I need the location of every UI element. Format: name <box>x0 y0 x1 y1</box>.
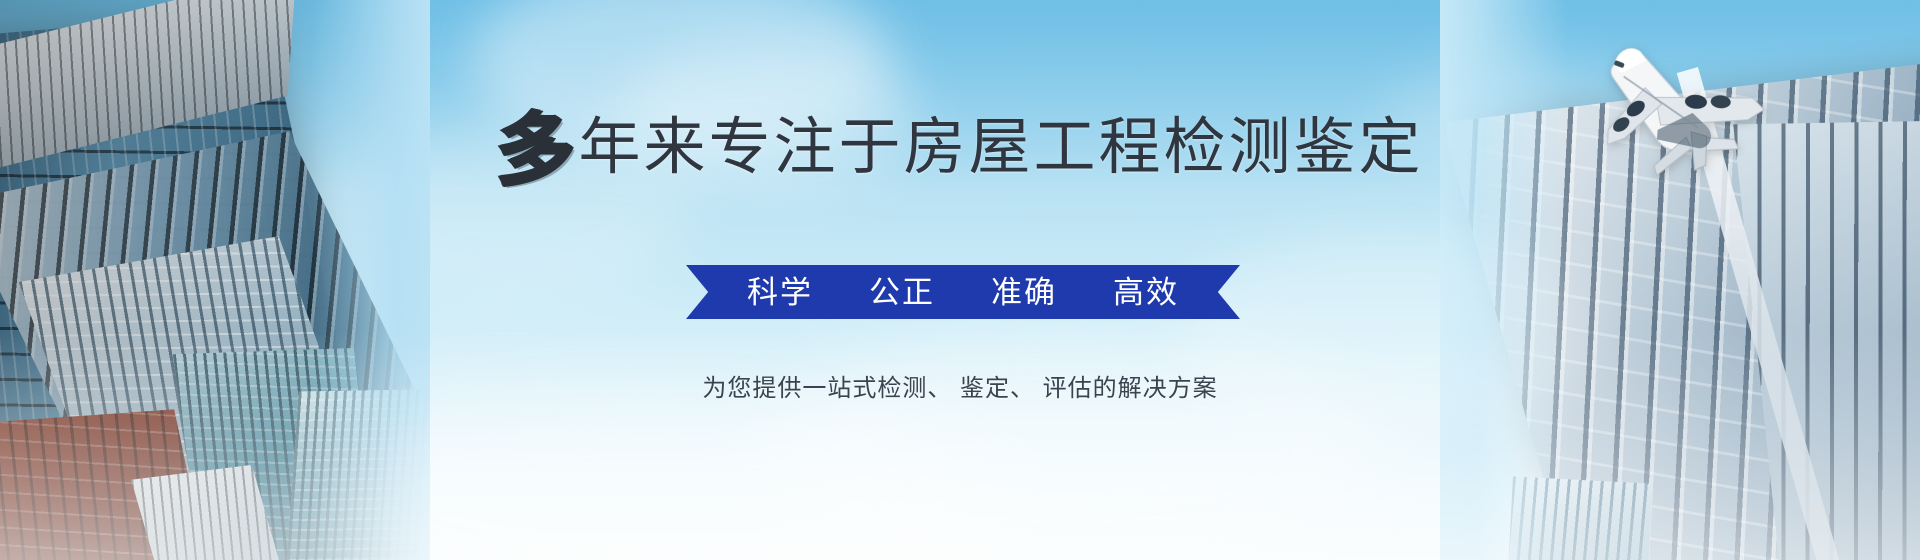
ribbon-item-zhunque: 准确 <box>991 277 1057 308</box>
ribbon-item-list: 科学 公正 准确 高效 <box>699 277 1227 308</box>
slogan-ribbon: 科学 公正 准确 高效 <box>686 265 1240 319</box>
ribbon-item-gaoxiao: 高效 <box>1113 277 1179 308</box>
ribbon-item-gongzheng: 公正 <box>869 277 935 308</box>
headline-rest-text: 年来专注于房屋工程检测鉴定 <box>579 113 1424 182</box>
ribbon-shape: 科学 公正 准确 高效 <box>686 265 1240 319</box>
banner-headline: 多年来专注于房屋工程检测鉴定 <box>0 112 1920 186</box>
banner-subtitle: 为您提供一站式检测、 鉴定、 评估的解决方案 <box>0 368 1920 403</box>
banner-content: 多年来专注于房屋工程检测鉴定 科学 公正 准确 高效 为您提供一站式检测、 鉴定… <box>0 0 1920 560</box>
hero-banner: 多年来专注于房屋工程检测鉴定 科学 公正 准确 高效 为您提供一站式检测、 鉴定… <box>0 0 1920 560</box>
headline-lead-character: 多 <box>496 114 574 186</box>
ribbon-item-kexue: 科学 <box>747 277 813 308</box>
